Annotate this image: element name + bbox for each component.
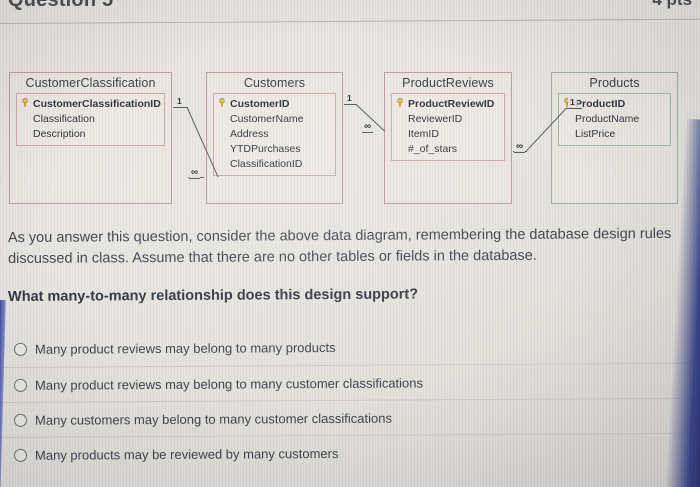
- er-field-label: Classification: [33, 113, 95, 125]
- radio-icon[interactable]: [14, 448, 27, 461]
- er-field-label: ClassificationID: [230, 158, 302, 170]
- er-field: ListPrice: [559, 126, 670, 141]
- er-field-list: CustomerID CustomerName Address YTDPurch…: [213, 93, 336, 176]
- cardinality-one: 1: [175, 97, 184, 108]
- er-table-title: Products: [552, 73, 677, 93]
- answer-option-label: Many product reviews may belong to many …: [35, 375, 423, 392]
- er-table-title: ProductReviews: [385, 73, 511, 93]
- er-field: Address: [214, 126, 335, 141]
- er-table-customers: Customers CustomerID CustomerName Addres…: [206, 72, 343, 204]
- question-title: Question 5: [8, 0, 113, 12]
- answer-option-4[interactable]: Many products may be reviewed by many cu…: [0, 433, 700, 472]
- key-icon: [396, 98, 404, 107]
- er-field-list: ProductReviewID ReviewerID ItemID #_of_s…: [391, 93, 505, 161]
- er-field: ProductName: [559, 111, 670, 126]
- er-field: ItemID: [392, 126, 504, 141]
- er-field-label: #_of_stars: [408, 143, 457, 155]
- er-field: #_of_stars: [392, 141, 504, 156]
- er-field: ReviewerID: [392, 111, 504, 126]
- er-field: CustomerID: [214, 96, 335, 111]
- er-field-label: ReviewerID: [408, 113, 462, 125]
- radio-icon[interactable]: [14, 413, 27, 426]
- answer-option-label: Many product reviews may belong to many …: [35, 340, 336, 357]
- er-table-title: Customers: [207, 73, 342, 93]
- er-field: Classification: [17, 111, 164, 126]
- cardinality-one: 1: [568, 98, 577, 109]
- er-field: CustomerName: [214, 111, 335, 126]
- answer-option-2[interactable]: Many product reviews may belong to many …: [0, 363, 700, 402]
- cardinality-one: 1: [345, 94, 354, 105]
- er-field-label: YTDPurchases: [230, 143, 301, 155]
- answer-options: Many product reviews may belong to many …: [0, 332, 700, 472]
- question-body: As you answer this question, consider th…: [8, 228, 680, 308]
- er-field-label: CustomerClassificationID: [33, 98, 161, 110]
- answer-option-3[interactable]: Many customers may belong to many custom…: [0, 398, 700, 437]
- er-field: CustomerClassificationID: [17, 96, 164, 111]
- er-field: Description: [17, 126, 164, 141]
- er-field-label: ItemID: [408, 128, 439, 140]
- entity-relationship-diagram: CustomerClassification CustomerClassific…: [0, 56, 700, 206]
- key-icon: [218, 98, 226, 107]
- answer-option-label: Many customers may belong to many custom…: [35, 410, 392, 427]
- er-table-title: CustomerClassification: [10, 73, 171, 93]
- cardinality-many: ∞: [362, 122, 373, 133]
- er-field: YTDPurchases: [214, 141, 335, 156]
- er-table-customerclassification: CustomerClassification CustomerClassific…: [9, 72, 172, 204]
- cardinality-many: ∞: [514, 142, 525, 153]
- er-field-label: ProductName: [575, 113, 639, 125]
- er-field: ProductReviewID: [392, 96, 504, 111]
- er-field-label: Description: [33, 128, 86, 140]
- er-table-products: Products ProductID ProductName ListPrice: [551, 72, 678, 204]
- question-intro: As you answer this question, consider th…: [8, 224, 680, 270]
- er-field-label: ListPrice: [575, 128, 615, 140]
- er-table-productreviews: ProductReviews ProductReviewID ReviewerI…: [384, 72, 512, 204]
- er-field: ClassificationID: [214, 156, 335, 171]
- answer-option-1[interactable]: Many product reviews may belong to many …: [0, 328, 700, 367]
- er-field-label: Address: [230, 128, 269, 140]
- key-icon: [21, 98, 29, 107]
- cardinality-many: ∞: [189, 168, 200, 179]
- answer-option-label: Many products may be reviewed by many cu…: [35, 445, 339, 462]
- er-field-label: ProductReviewID: [408, 98, 494, 110]
- radio-icon[interactable]: [14, 378, 27, 391]
- er-field-label: CustomerName: [230, 113, 304, 125]
- er-field-label: CustomerID: [230, 98, 290, 110]
- quiz-screen: Question 5 4 pts CustomerClassification …: [0, 0, 700, 487]
- radio-icon[interactable]: [14, 343, 27, 356]
- er-field-list: CustomerClassificationID Classification …: [16, 93, 165, 146]
- er-field-label: ProductID: [575, 98, 625, 110]
- question-prompt: What many-to-many relationship does this…: [8, 283, 680, 308]
- question-points: 4 pts: [652, 0, 692, 10]
